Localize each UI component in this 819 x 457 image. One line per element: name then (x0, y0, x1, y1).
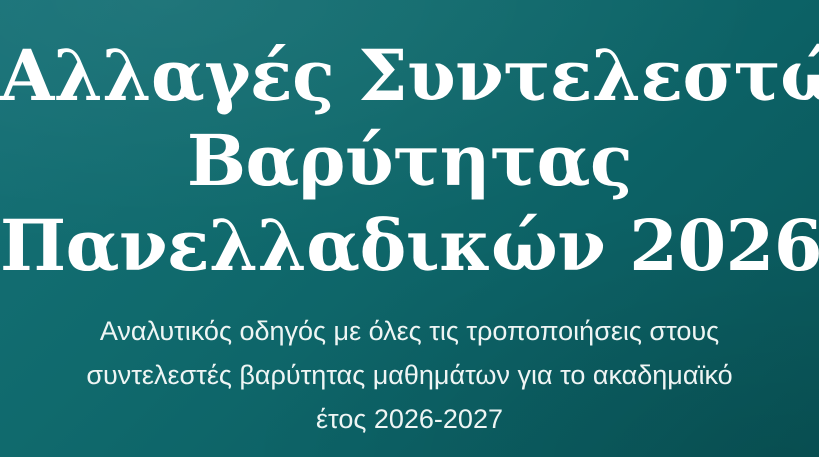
page-title: Αλλαγές Συντελεστών Βαρύτητας Πανελλαδικ… (0, 0, 819, 288)
hero-banner: Αλλαγές Συντελεστών Βαρύτητας Πανελλαδικ… (0, 0, 819, 457)
page-subtitle-line-3: έτος 2026-2027 (0, 397, 819, 441)
page-subtitle: Αναλυτικός οδηγός με όλες τις τροποποιήσ… (0, 288, 819, 441)
page-title-line-1: Αλλαγές Συντελεστών (0, 0, 819, 118)
page-subtitle-line-1: Αναλυτικός οδηγός με όλες τις τροποποιήσ… (0, 309, 819, 353)
hero-content: Αλλαγές Συντελεστών Βαρύτητας Πανελλαδικ… (0, 0, 819, 441)
page-subtitle-line-2: συντελεστές βαρύτητας μαθημάτων για το α… (0, 353, 819, 397)
page-title-line-3: Πανελλαδικών 2026 (0, 203, 819, 288)
page-title-line-2: Βαρύτητας (0, 118, 819, 203)
